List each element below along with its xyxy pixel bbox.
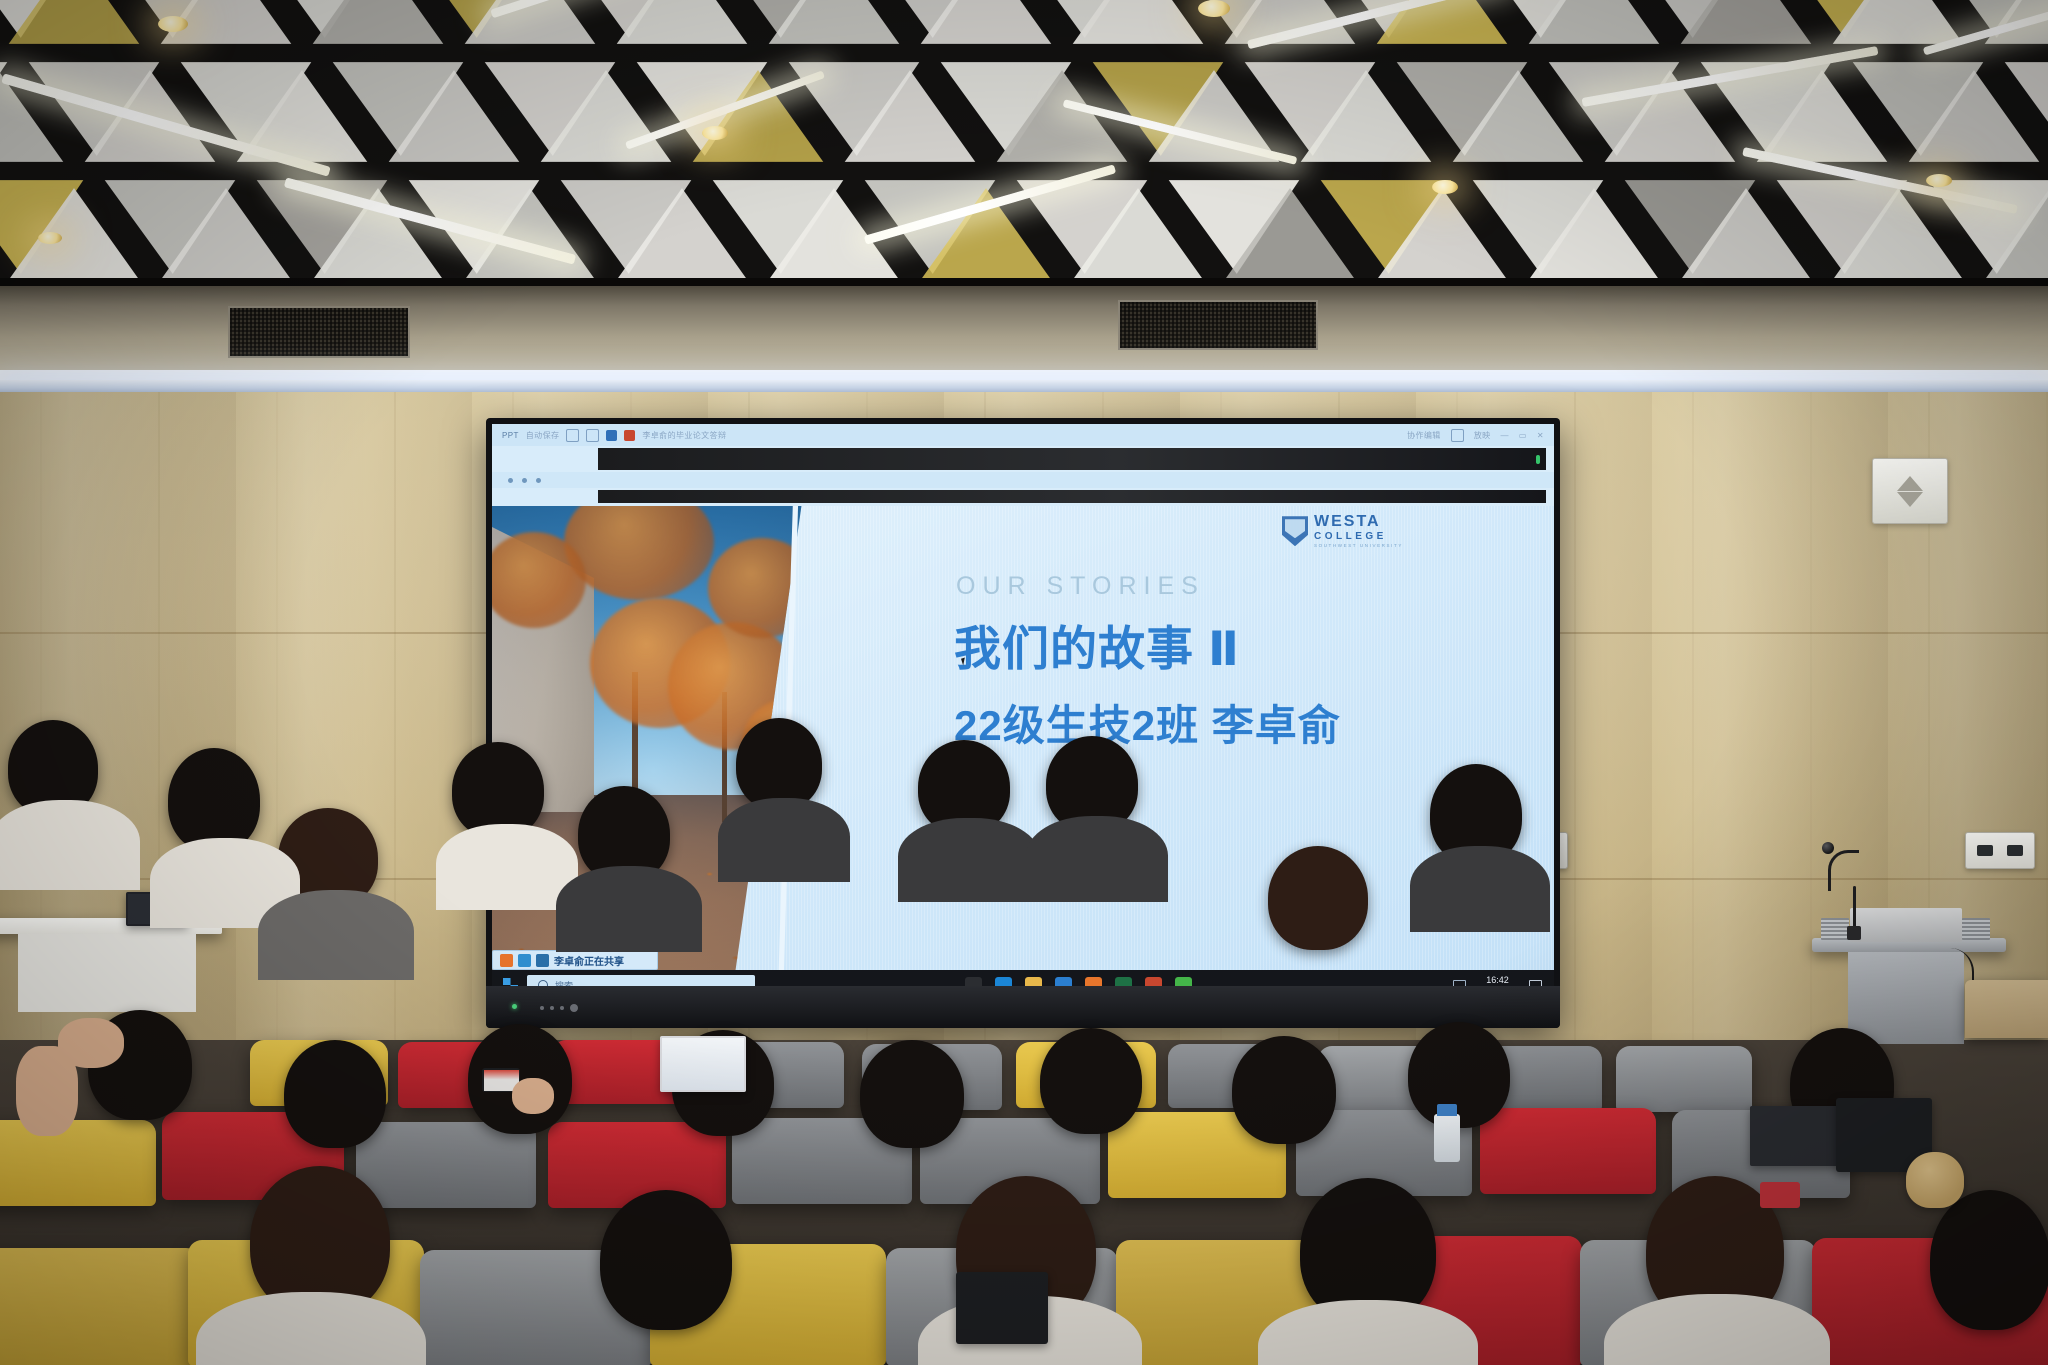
share-status-text: 李卓俞正在共享	[554, 953, 624, 968]
audience-shoulders	[1026, 816, 1168, 902]
search-placeholder: 搜索	[555, 979, 573, 987]
start-button-icon[interactable]	[503, 978, 518, 987]
slide-eyebrow: OUR STORIES	[956, 572, 1205, 601]
podium-speaker-grill	[1821, 918, 1849, 940]
audience-chair	[1480, 1108, 1656, 1194]
audience-head	[168, 748, 260, 852]
crest-banner	[1279, 540, 1311, 545]
water-bottle[interactable]	[1434, 1114, 1460, 1162]
app-dark-toolbar	[598, 448, 1546, 470]
microphone-icon[interactable]	[518, 954, 531, 967]
screen-share-icon[interactable]	[536, 954, 549, 967]
audience-head	[1930, 1190, 2048, 1330]
wall-control-panel-upper-right[interactable]	[1965, 832, 2035, 869]
audience-shoulders	[1410, 846, 1550, 932]
app-dark-toolbar-lower	[598, 490, 1546, 503]
audience-shoulders	[0, 800, 140, 890]
slide-heading: 我们的故事 Ⅱ	[954, 610, 1240, 679]
lecture-hall-photo: PPT 自动保存 李卓俞的毕业论文答辩 协作编辑 放映 — ▭ ✕	[0, 0, 2048, 1365]
bottle-cap	[1437, 1104, 1457, 1116]
podium-body	[1848, 952, 1964, 1044]
save-icon[interactable]	[606, 430, 617, 441]
system-tray[interactable]: 16:42 2025/10/19	[1453, 975, 1554, 986]
desk-panel	[18, 934, 196, 1012]
ribbon-dot-icon[interactable]	[508, 478, 513, 483]
podium-screen[interactable]	[1850, 908, 1962, 942]
display-button[interactable]	[550, 1006, 554, 1010]
audience-tablet[interactable]	[956, 1272, 1048, 1344]
ribbon-toolbar[interactable]	[492, 472, 1554, 488]
taskbar-app-excel[interactable]	[1115, 977, 1132, 987]
wall-wood-grain	[236, 392, 472, 1092]
display-button[interactable]	[560, 1006, 564, 1010]
ceiling-panel-grid	[0, 0, 2048, 292]
ceiling-downlight	[1198, 0, 1230, 17]
laptop-screen	[662, 1038, 744, 1090]
audience-head	[1268, 846, 1368, 950]
participant-icon[interactable]	[500, 954, 513, 967]
taskbar-app-edge-browser[interactable]	[995, 977, 1012, 987]
audience-head	[1408, 1022, 1510, 1128]
ceiling-downlight	[1926, 174, 1952, 187]
clock-time: 16:42	[1475, 975, 1520, 985]
college-logo: WESTA COLLEGE SOUTHWEST UNIVERSITY	[1282, 514, 1403, 549]
autosave-label[interactable]: 自动保存	[526, 430, 560, 441]
audience-head	[1040, 1028, 1142, 1134]
ceiling-downlight	[702, 126, 728, 140]
display-power-led	[512, 1004, 517, 1009]
ceiling-downlight	[1432, 180, 1458, 194]
gooseneck-microphone-arm	[1828, 850, 1859, 891]
document-tab-label[interactable]: 李卓俞的毕业论文答辩	[642, 430, 726, 441]
logo-line-3: SOUTHWEST UNIVERSITY	[1314, 544, 1403, 549]
taskbar-app-powerpoint[interactable]	[1145, 977, 1162, 987]
audience-head	[284, 1040, 386, 1148]
taskbar-app-file-explorer[interactable]	[1025, 977, 1042, 987]
display-bottom-bezel	[486, 986, 1560, 1028]
arrow-down-icon[interactable]	[1897, 492, 1923, 507]
ceiling-downlight	[158, 16, 188, 32]
taskbar-clock[interactable]: 16:42 2025/10/19	[1475, 975, 1520, 986]
audience-head	[860, 1040, 964, 1148]
minimize-button[interactable]: —	[1501, 431, 1509, 440]
ac-thermostat-panel[interactable]	[1872, 458, 1948, 524]
side-table	[1965, 980, 2048, 1038]
audience-chair	[548, 1122, 726, 1208]
app-name-label: PPT	[502, 431, 519, 440]
ceiling-air-vent	[228, 306, 410, 358]
ceiling-downlight	[38, 232, 62, 244]
control-indicator	[1977, 845, 1993, 857]
restore-button[interactable]: ▭	[1519, 431, 1527, 440]
undo-icon[interactable]	[566, 429, 579, 442]
podium-speaker-grill	[1962, 918, 1990, 940]
audience-chair	[1616, 1046, 1752, 1112]
lion-shield-crest-icon	[1282, 516, 1308, 546]
microphone-head-icon	[1822, 842, 1834, 854]
document-icon	[624, 430, 635, 441]
slide-subheading: 22级生技2班 李卓俞	[954, 692, 1341, 753]
display-button[interactable]	[540, 1006, 544, 1010]
display-hardware-buttons[interactable]	[540, 1004, 578, 1012]
redo-icon[interactable]	[586, 429, 599, 442]
cove-light-white	[0, 370, 2048, 380]
audience-head	[1232, 1036, 1336, 1144]
presentation-app-titlebar: PPT 自动保存 李卓俞的毕业论文答辩 协作编辑 放映 — ▭ ✕	[492, 424, 1554, 446]
audience-head	[736, 718, 822, 810]
audience-chair	[0, 1248, 200, 1365]
status-indicator	[1536, 455, 1540, 464]
audience-shoulders	[258, 890, 414, 980]
logo-line-1: WESTA	[1314, 514, 1403, 530]
taskbar-app-task-view[interactable]	[965, 977, 982, 987]
present-label[interactable]: 放映	[1474, 430, 1491, 441]
audience-laptop[interactable]	[660, 1036, 746, 1092]
ribbon-dot-icon[interactable]	[536, 478, 541, 483]
display-button[interactable]	[570, 1004, 578, 1012]
audience-shoulders	[898, 818, 1040, 902]
audience-head	[600, 1190, 732, 1330]
taskbar-app-wechat[interactable]	[1175, 977, 1192, 987]
audience-hand	[512, 1078, 554, 1114]
control-indicator	[2007, 845, 2023, 857]
ceiling-air-vent	[1118, 300, 1318, 350]
present-icon[interactable]	[1451, 429, 1464, 442]
search-input[interactable]: 搜索	[527, 975, 755, 987]
audience-smartphone[interactable]	[1760, 1182, 1800, 1208]
ribbon-dot-icon[interactable]	[522, 478, 527, 483]
audience-shoulders	[718, 798, 850, 882]
taskbar-app-store[interactable]	[1055, 977, 1072, 987]
audience-arm	[16, 1046, 78, 1136]
screen-share-notification[interactable]: 李卓俞正在共享	[492, 950, 658, 970]
plush-toy	[1906, 1152, 1964, 1208]
close-button[interactable]: ✕	[1537, 431, 1544, 440]
audience-chair	[0, 1120, 156, 1206]
arrow-up-icon[interactable]	[1897, 476, 1923, 491]
taskbar-app-generic-orange[interactable]	[1085, 977, 1102, 987]
windows-taskbar[interactable]: 搜索 16:42 2025/10/19	[492, 970, 1554, 986]
microphone-base	[1847, 926, 1861, 940]
logo-line-2: COLLEGE	[1314, 532, 1403, 542]
audience-shoulders	[556, 866, 702, 952]
audience-chair	[356, 1122, 536, 1208]
audience-laptop[interactable]	[1750, 1106, 1842, 1166]
collab-edit-label[interactable]: 协作编辑	[1407, 430, 1441, 441]
